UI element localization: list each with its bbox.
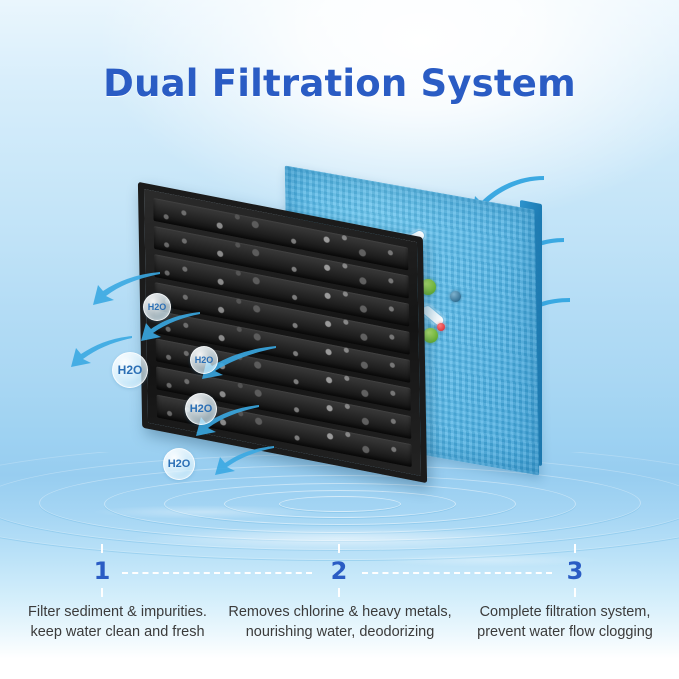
step-caption-2-line1: Removes chlorine & heavy metals, <box>226 602 454 622</box>
page-title: Dual Filtration System <box>0 62 679 105</box>
h2o-bubble: H2O <box>163 448 195 480</box>
step-caption-1-line2: keep water clean and fresh <box>10 622 225 642</box>
water-flow-arrow-out-6 <box>214 446 276 476</box>
step-caption-2: Removes chlorine & heavy metals, nourish… <box>226 602 454 642</box>
step-number-3: 3 <box>558 554 592 588</box>
step-caption-1-line1: Filter sediment & impurities. <box>10 602 225 622</box>
step-divider <box>122 572 312 574</box>
step-caption-1: Filter sediment & impurities. keep water… <box>10 602 225 642</box>
filtration-illustration: H2O H2O H2O H2O H2O <box>0 150 679 490</box>
h2o-bubble: H2O <box>185 393 217 425</box>
h2o-bubble: H2O <box>143 293 171 321</box>
step-caption-3: Complete filtration system, prevent wate… <box>456 602 674 642</box>
h2o-bubble: H2O <box>190 346 218 374</box>
steps-section: 1 2 3 Filter sediment & impurities. keep… <box>0 548 679 679</box>
step-number-2: 2 <box>322 554 356 588</box>
impurity-particle <box>437 323 445 331</box>
step-caption-2-line2: nourishing water, deodorizing <box>226 622 454 642</box>
step-divider <box>362 572 552 574</box>
step-caption-3-line2: prevent water flow clogging <box>456 622 674 642</box>
h2o-bubble: H2O <box>112 352 148 388</box>
step-caption-3-line1: Complete filtration system, <box>456 602 674 622</box>
product-infographic: Dual Filtration System <box>0 0 679 679</box>
heavy-metal-particle <box>450 291 461 302</box>
virus-particle <box>423 328 438 343</box>
step-number-1: 1 <box>85 554 119 588</box>
